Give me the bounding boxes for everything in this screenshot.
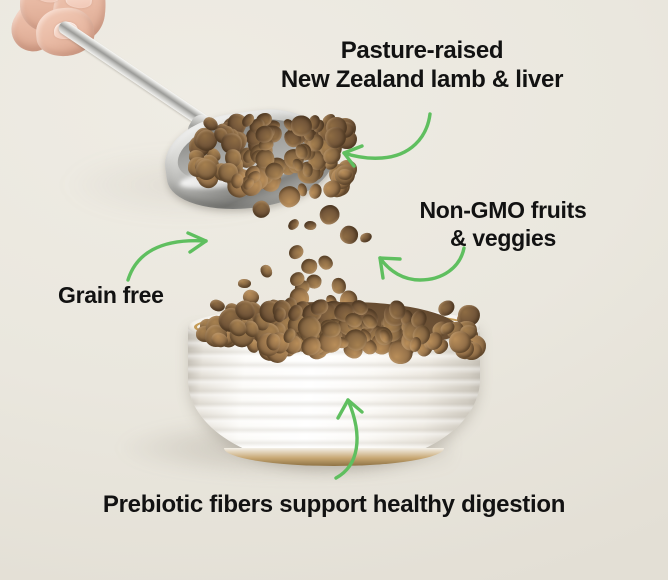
callout-line: Non-GMO fruits — [392, 197, 614, 225]
callout-line: Pasture-raised — [272, 36, 572, 65]
callout-line: Prebiotic fibers support healthy digesti… — [0, 490, 668, 519]
callout-line: New Zealand lamb & liver — [272, 65, 572, 94]
callout-pasture-raised: Pasture-raised New Zealand lamb & liver — [272, 36, 572, 94]
callout-line: Grain free — [58, 282, 248, 310]
arrow-to-scoop-kibble — [326, 112, 434, 174]
kibble-piece — [303, 221, 316, 230]
callout-prebiotic-fibers: Prebiotic fibers support healthy digesti… — [0, 490, 668, 519]
callout-non-gmo: Non-GMO fruits & veggies — [392, 197, 614, 253]
kibble-piece — [300, 258, 318, 274]
kibble-piece — [287, 243, 306, 262]
kibble-piece — [316, 201, 343, 228]
kibble-piece — [338, 224, 359, 245]
product-feature-image: Pasture-raised New Zealand lamb & liver … — [0, 0, 668, 580]
callout-grain-free: Grain free — [58, 282, 248, 310]
kibble-piece — [315, 253, 335, 273]
callout-line: & veggies — [392, 225, 614, 253]
arrow-to-bowl — [316, 392, 382, 480]
kibble-piece — [258, 262, 274, 279]
arrow-to-bowl-kibble — [126, 228, 222, 284]
